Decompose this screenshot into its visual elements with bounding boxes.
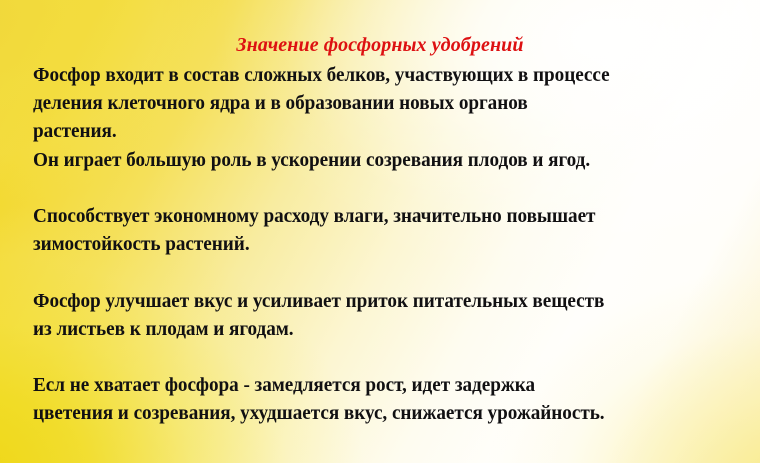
body-line: Фосфор улучшает вкус и усиливает приток …: [33, 288, 734, 316]
body-line: цветения и созревания, ухудшается вкус, …: [33, 400, 734, 428]
body-line: Способствует экономному расходу влаги, з…: [33, 203, 734, 231]
body-paragraph: Способствует экономному расходу влаги, з…: [33, 203, 734, 259]
slide-body-text: Фосфор входит в состав сложных белков, у…: [33, 62, 734, 429]
body-line: деления клеточного ядра и в образовании …: [33, 90, 734, 118]
body-line: растения.: [33, 118, 734, 146]
slide-canvas: Значение фосфорных удобрений Фосфор вход…: [0, 0, 760, 463]
slide-title: Значение фосфорных удобрений: [0, 34, 760, 56]
body-line: Фосфор входит в состав сложных белков, у…: [33, 62, 734, 90]
slide-content: Значение фосфорных удобрений Фосфор вход…: [0, 0, 760, 463]
body-line: Есл не хватает фосфора - замедляется рос…: [33, 372, 734, 400]
body-paragraph: Фосфор входит в состав сложных белков, у…: [33, 62, 734, 175]
body-line: зимостойкость растений.: [33, 231, 734, 259]
body-line: из листьев к плодам и ягодам.: [33, 316, 734, 344]
body-paragraph: Фосфор улучшает вкус и усиливает приток …: [33, 288, 734, 344]
body-line: Он играет большую роль в ускорении созре…: [33, 147, 734, 175]
body-paragraph: Есл не хватает фосфора - замедляется рос…: [33, 372, 734, 428]
